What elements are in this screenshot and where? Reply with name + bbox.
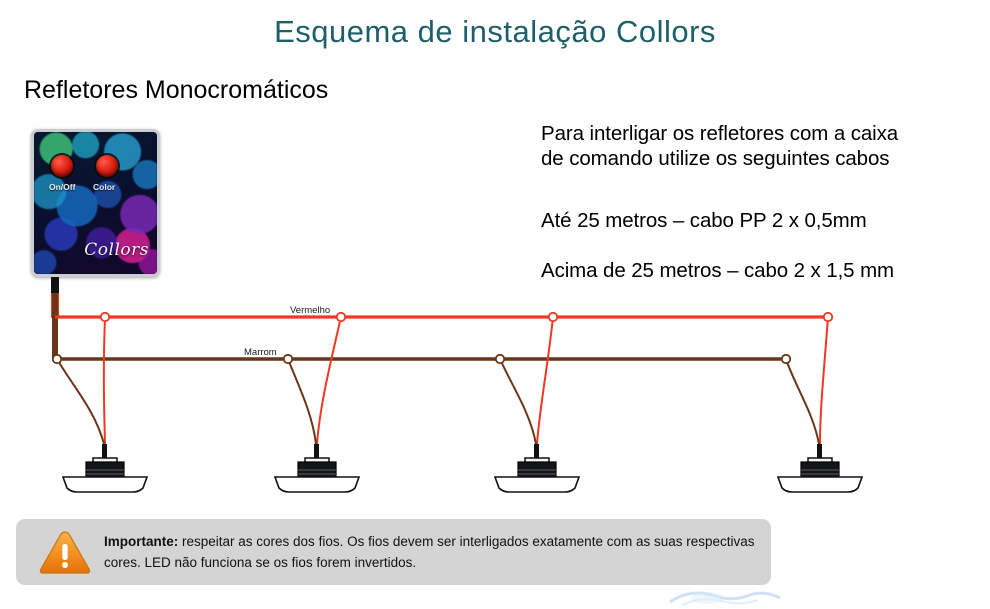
color-button-label: Color bbox=[93, 182, 115, 192]
wire-label-brown: Marrom bbox=[244, 347, 277, 358]
important-note-text: Importante: respeitar as cores dos fios.… bbox=[104, 531, 757, 573]
brown-drop-wire-4 bbox=[786, 359, 819, 444]
red-junction-node bbox=[549, 313, 557, 321]
bottom-watermark-logo bbox=[660, 586, 810, 609]
info-line-cable-long: Acima de 25 metros – cabo 2 x 1,5 mm bbox=[541, 259, 894, 283]
info-line-cable-short: Até 25 metros – cabo PP 2 x 0,5mm bbox=[541, 209, 867, 233]
brown-junction-node bbox=[53, 355, 61, 363]
brown-junction-node bbox=[782, 355, 790, 363]
red-drop-wire-3 bbox=[537, 317, 553, 444]
info-line-intro-1: Para interligar os refletores com a caix… bbox=[541, 122, 898, 146]
control-box: On/Off Color Collors bbox=[31, 129, 160, 277]
important-note-label: Importante: bbox=[104, 534, 178, 549]
brown-drop-wire-1 bbox=[57, 359, 104, 444]
wire-label-red: Vermelho bbox=[290, 305, 330, 316]
led-fixture bbox=[778, 444, 862, 492]
warning-triangle-icon bbox=[38, 529, 92, 577]
brown-drop-wire-3 bbox=[500, 359, 536, 444]
brown-junction-node bbox=[496, 355, 504, 363]
power-button[interactable] bbox=[51, 155, 73, 177]
important-note: Importante: respeitar as cores dos fios.… bbox=[16, 519, 771, 585]
section-subtitle: Refletores Monocromáticos bbox=[24, 76, 328, 105]
power-button-label: On/Off bbox=[49, 182, 75, 192]
control-box-brand-logo: Collors bbox=[34, 240, 149, 260]
color-button[interactable] bbox=[96, 155, 118, 177]
box-cable-black bbox=[51, 277, 59, 294]
page-title: Esquema de instalação Collors bbox=[0, 14, 990, 50]
info-line-intro-2: de comando utilize os seguintes cabos bbox=[541, 147, 889, 171]
led-fixture bbox=[275, 444, 359, 492]
led-fixture bbox=[63, 444, 147, 492]
red-junction-node bbox=[337, 313, 345, 321]
red-junction-node bbox=[101, 313, 109, 321]
red-drop-wire-4 bbox=[820, 317, 828, 444]
red-drop-wire-2 bbox=[317, 317, 341, 444]
red-junction-node bbox=[824, 313, 832, 321]
important-note-body: respeitar as cores dos fios. Os fios dev… bbox=[104, 534, 755, 570]
red-drop-wire-1 bbox=[104, 317, 105, 444]
led-fixture bbox=[495, 444, 579, 492]
brown-junction-node bbox=[284, 355, 292, 363]
box-cable-brown-trunk bbox=[52, 293, 58, 361]
box-cable-red bbox=[51, 293, 59, 318]
brown-drop-wire-2 bbox=[288, 359, 316, 444]
